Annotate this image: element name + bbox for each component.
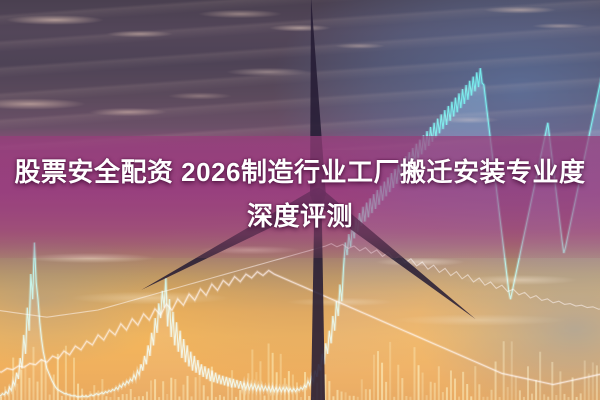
page-title: 股票安全配资 2026制造行业工厂搬迁安装专业度 深度评测 [0, 150, 600, 238]
banner-image: 股票安全配资 2026制造行业工厂搬迁安装专业度 深度评测 [0, 0, 600, 400]
cloud-band-lower [0, 240, 600, 400]
